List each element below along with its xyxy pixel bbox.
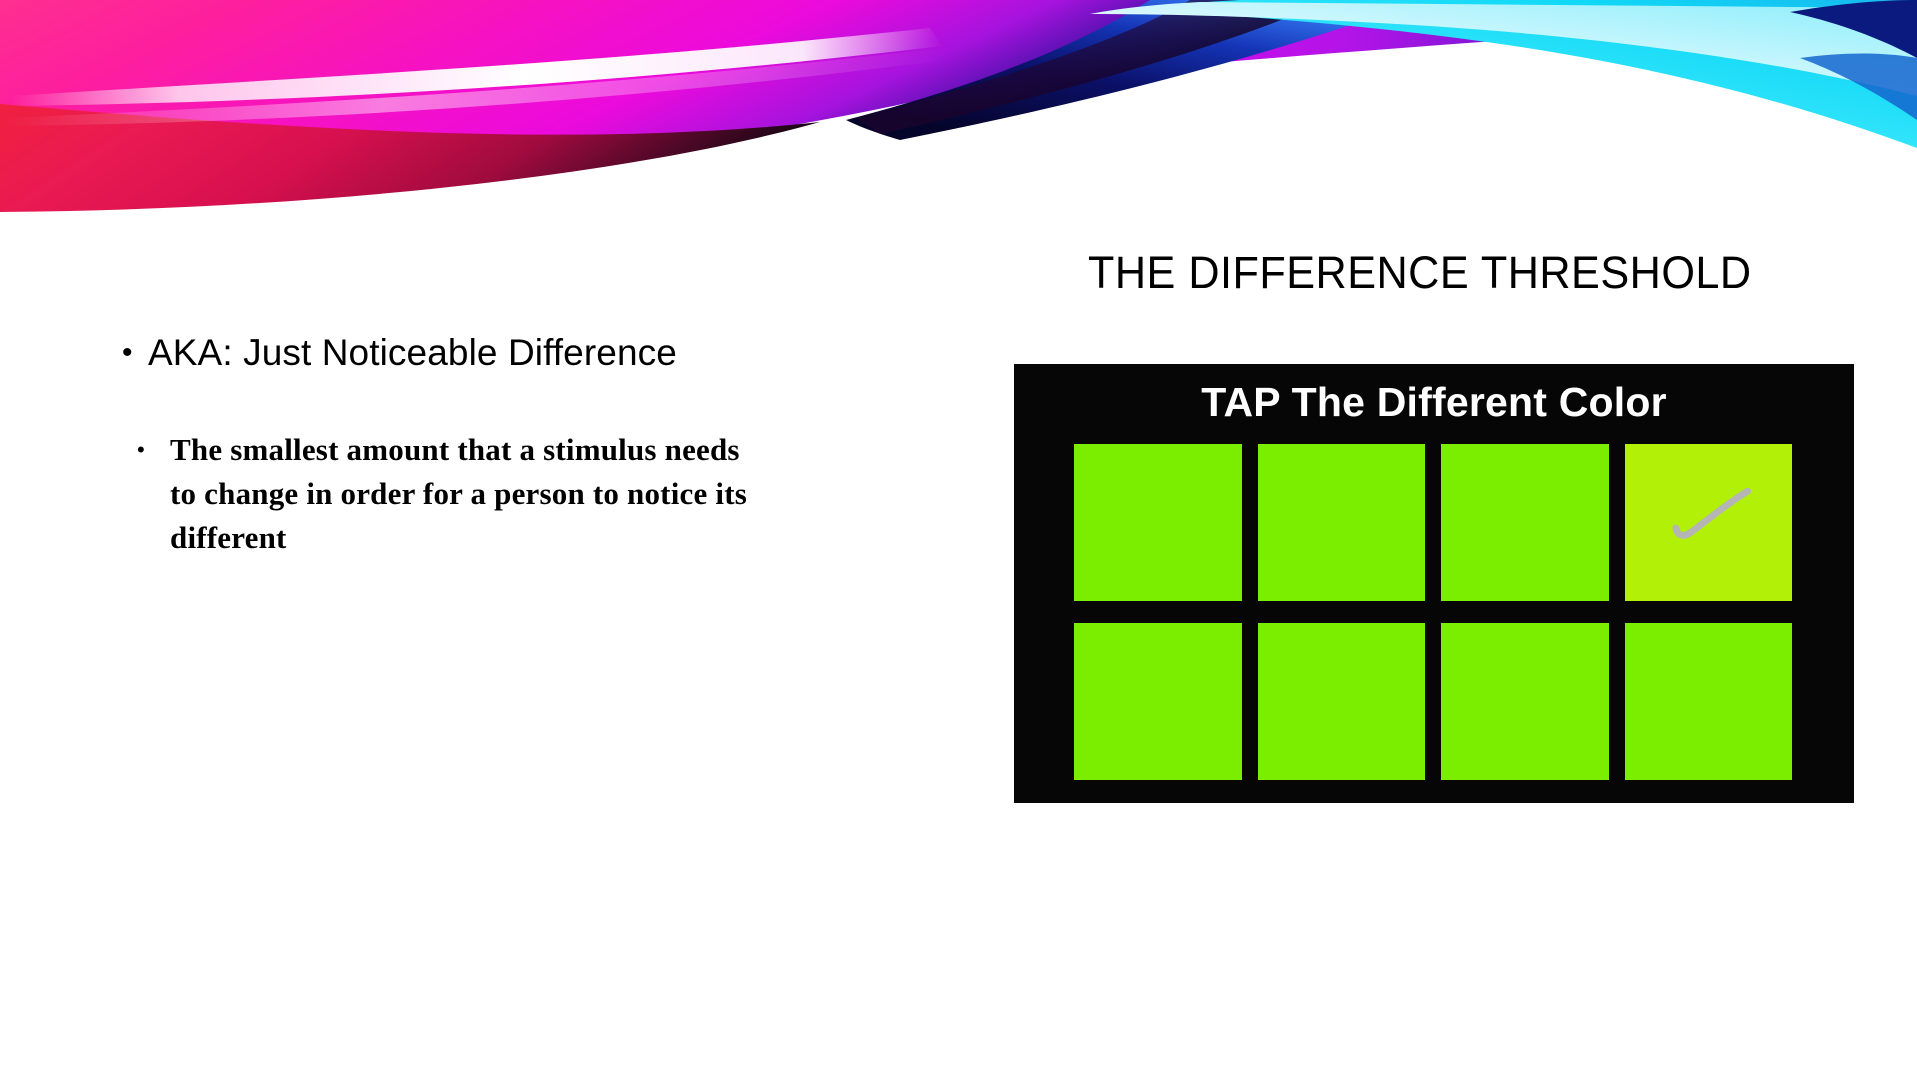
color-tile (1258, 623, 1426, 780)
bullet-marker-icon: • (122, 330, 148, 376)
sub-bullet-text: The smallest amount that a stimulus need… (170, 428, 770, 560)
color-tile (1625, 623, 1793, 780)
color-tile (1441, 623, 1609, 780)
color-tile-grid (1074, 444, 1792, 780)
page-title: THE DIFFERENCE THRESHOLD (1088, 250, 1752, 295)
swipe-stroke-icon (1668, 479, 1765, 548)
bullet-list: • AKA: Just Noticeable Difference • The … (0, 330, 900, 560)
bullet-text: AKA: Just Noticeable Difference (148, 330, 677, 376)
game-caption: TAP The Different Color (1014, 376, 1854, 428)
wave-graphic (0, 0, 1917, 230)
bullet-item-level2: • The smallest amount that a stimulus ne… (0, 428, 900, 560)
color-tile (1074, 623, 1242, 780)
color-tile (1258, 444, 1426, 601)
tap-the-different-color-image: TAP The Different Color (1014, 364, 1854, 803)
decorative-wave-banner (0, 0, 1917, 230)
color-tile (1074, 444, 1242, 601)
color-tile-odd-one-out (1625, 444, 1793, 601)
sub-bullet-marker-icon: • (137, 428, 170, 472)
color-tile (1441, 444, 1609, 601)
bullet-item-level1: • AKA: Just Noticeable Difference (0, 330, 900, 376)
